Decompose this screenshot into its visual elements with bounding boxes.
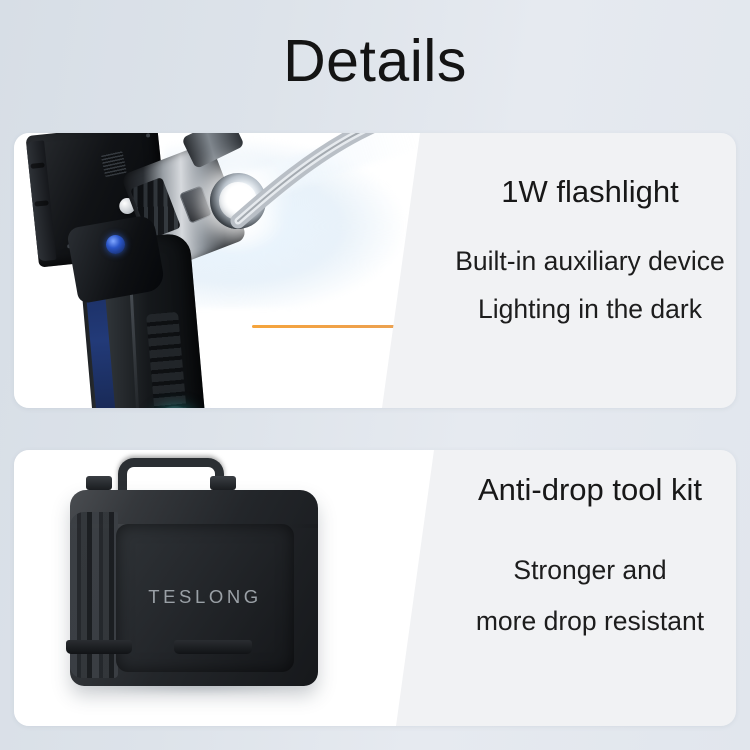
case-latch-left [86,476,112,490]
photo-stage [14,133,444,408]
case-foot-right [174,640,252,654]
feature-line-2: more drop resistant [440,605,736,637]
feature-title: 1W flashlight [444,174,736,210]
feature-line-2: Lighting in the dark [440,293,736,325]
blue-indicator-led [106,235,125,254]
grip-texture-ridges [146,312,187,408]
flexible-probe-cable [232,133,422,237]
trigger-housing [66,214,166,304]
photo-stage: TESLONG [14,450,444,726]
tool-case-illustration: TESLONG [14,450,444,726]
product-photo-tool-case: TESLONG [14,450,444,726]
endoscope-illustration [14,133,444,408]
feature-card-flashlight: 1W flashlight Built-in auxiliary device … [14,133,736,408]
feature-title: Anti-drop tool kit [444,472,736,508]
feature-line-1: Built-in auxiliary device [440,245,736,277]
page-title: Details [0,26,750,96]
feature-line-1: Stronger and [440,554,736,586]
case-brand-label: TESLONG [116,586,294,608]
case-foot-left [66,640,132,654]
screw-icon [146,133,150,137]
rubber-grip-edge [26,140,56,261]
speaker-grille-icon [101,151,127,177]
product-photo-flashlight [14,133,444,408]
feature-card-tool-kit: TESLONG Anti-drop tool kit Stronger and … [14,450,736,726]
case-latch-right [210,476,236,490]
flashlight-led-pointer-line [252,325,420,328]
feature-text-tool-kit: Anti-drop tool kit Stronger and more dro… [444,450,736,726]
page-header: Details [0,0,750,133]
case-body: TESLONG [70,490,318,686]
feature-text-flashlight: 1W flashlight Built-in auxiliary device … [444,133,736,408]
product-detail-page: Details [0,0,750,750]
housing-switch [179,185,213,223]
